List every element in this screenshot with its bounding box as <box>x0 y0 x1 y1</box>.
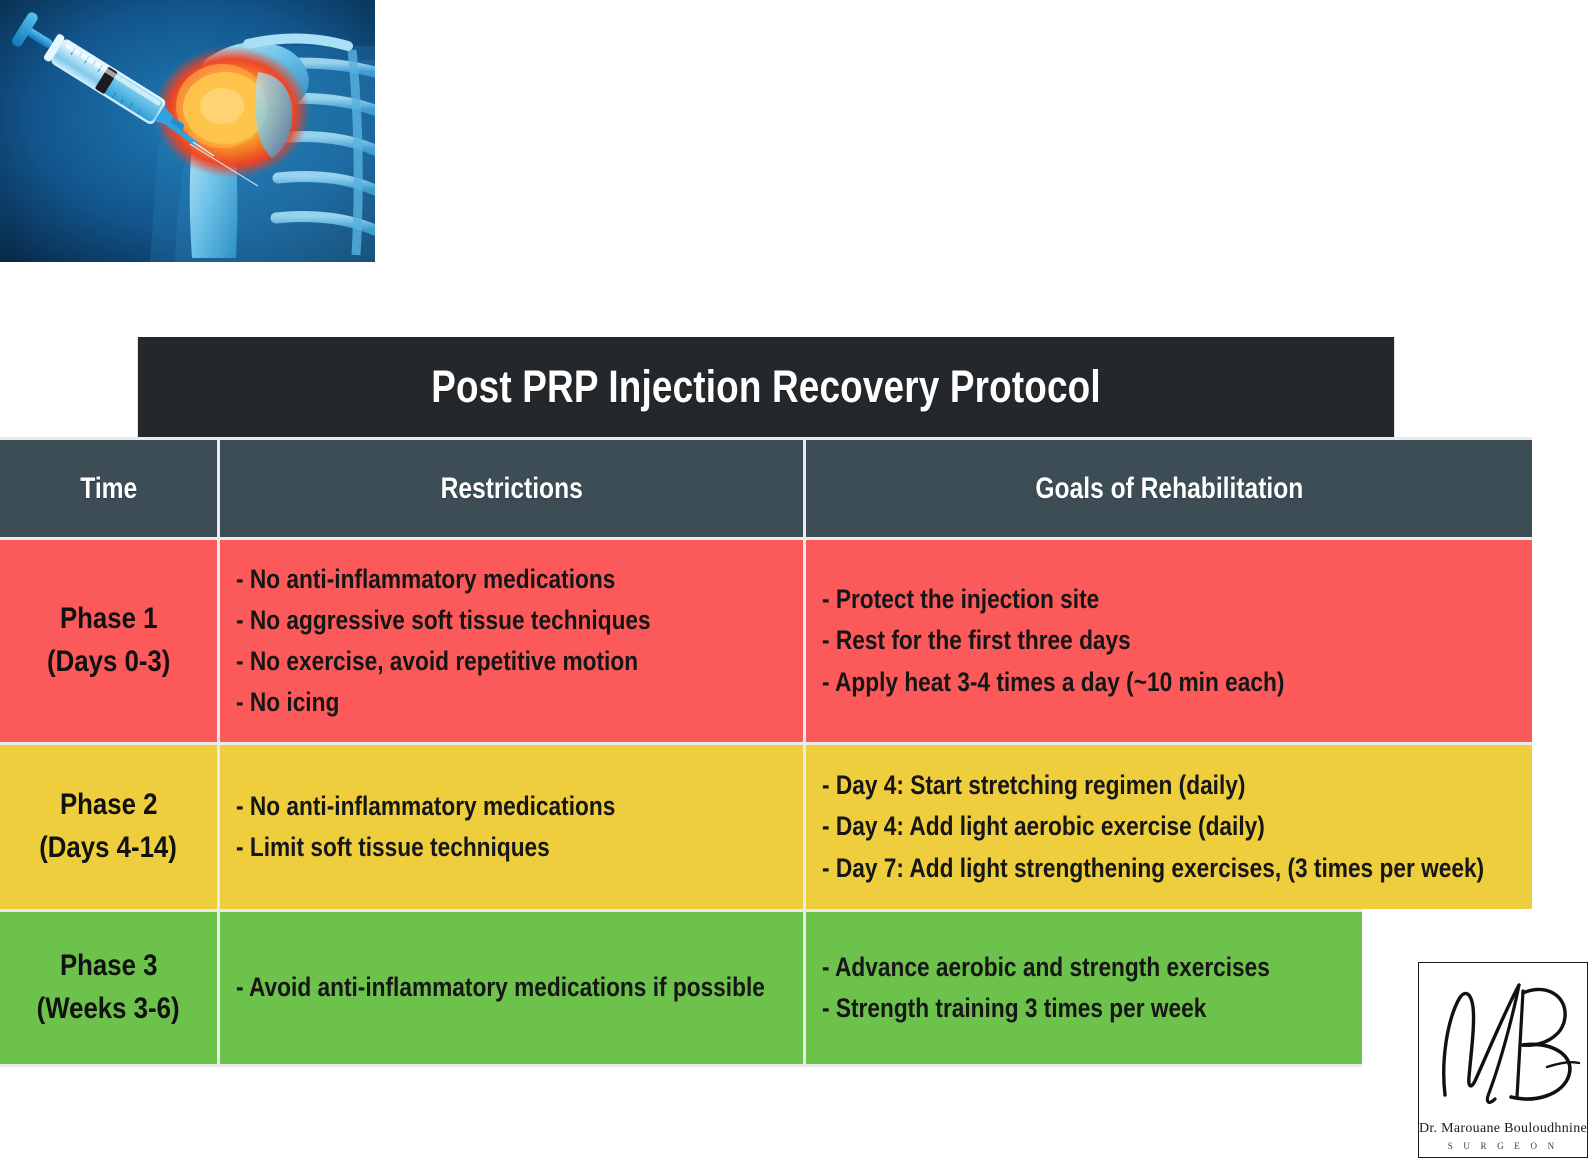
phase-name: Phase 2 <box>60 784 158 827</box>
list-item: - No anti-inflammatory medications <box>236 786 699 827</box>
table-row: Phase 1 (Days 0-3) - No anti-inflammator… <box>0 537 1532 742</box>
list-item: - Strength training 3 times per week <box>822 988 1262 1029</box>
mb-monogram-icon <box>1427 969 1581 1109</box>
shoulder-injection-svg <box>0 0 375 262</box>
phase-name: Phase 1 <box>60 598 158 641</box>
phase-period: (Weeks 3-6) <box>37 988 180 1031</box>
column-header-goals-label: Goals of Rehabilitation <box>1035 472 1303 506</box>
table-row: Phase 2 (Days 4-14) - No anti-inflammato… <box>0 742 1532 909</box>
phase-restrictions-cell: - Avoid anti-inflammatory medications if… <box>217 912 803 1064</box>
goals-list: - Advance aerobic and strength exercises… <box>822 947 1346 1029</box>
restrictions-list: - No anti-inflammatory medications - Lim… <box>236 786 787 868</box>
surgeon-role: S U R G E O N <box>1448 1141 1559 1151</box>
phase-restrictions-cell: - No anti-inflammatory medications - Lim… <box>217 745 803 909</box>
list-item: - Limit soft tissue techniques <box>236 827 699 868</box>
phase-goals-cell: - Advance aerobic and strength exercises… <box>803 912 1362 1064</box>
recovery-protocol-table: Post PRP Injection Recovery Protocol Tim… <box>0 337 1532 1067</box>
column-header-goals: Goals of Rehabilitation <box>803 440 1532 537</box>
restrictions-list: - Avoid anti-inflammatory medications if… <box>236 967 787 1008</box>
list-item: - No anti-inflammatory medications <box>236 559 699 600</box>
phase-time-cell: Phase 2 (Days 4-14) <box>0 745 217 909</box>
phase-period: (Days 4-14) <box>40 827 178 870</box>
list-item: - Advance aerobic and strength exercises <box>822 947 1262 988</box>
table-row: Phase 3 (Weeks 3-6) - Avoid anti-inflamm… <box>0 909 1362 1064</box>
list-item: - Protect the injection site <box>822 579 1405 620</box>
list-item: - Rest for the first three days <box>822 620 1405 661</box>
phase-time-cell: Phase 3 (Weeks 3-6) <box>0 912 217 1064</box>
goals-list: - Day 4: Start stretching regimen (daily… <box>822 765 1596 888</box>
surgeon-logo: Dr. Marouane Bouloudhnine S U R G E O N <box>1418 962 1588 1158</box>
table-title-bar: Post PRP Injection Recovery Protocol <box>138 337 1394 437</box>
list-item: - Apply heat 3-4 times a day (~10 min ea… <box>822 662 1405 703</box>
table-header-row: Time Restrictions Goals of Rehabilitatio… <box>0 437 1532 537</box>
list-item: - No aggressive soft tissue techniques <box>236 600 699 641</box>
list-item: - No exercise, avoid repetitive motion <box>236 641 699 682</box>
shoulder-injection-illustration <box>0 0 375 262</box>
column-header-time-label: Time <box>80 472 137 506</box>
list-item: - Day 4: Add light aerobic exercise (dai… <box>822 806 1484 847</box>
goals-list: - Protect the injection site - Rest for … <box>822 579 1516 702</box>
table-bottom-border <box>0 1064 1362 1067</box>
column-header-restrictions: Restrictions <box>217 440 803 537</box>
list-item: - Day 7: Add light strengthening exercis… <box>822 848 1484 889</box>
surgeon-name: Dr. Marouane Bouloudhnine <box>1419 1121 1587 1137</box>
list-item: - Avoid anti-inflammatory medications if… <box>236 967 699 1008</box>
phase-name: Phase 3 <box>60 945 158 988</box>
list-item: - No icing <box>236 682 699 723</box>
phase-goals-cell: - Protect the injection site - Rest for … <box>803 540 1532 742</box>
phase-period: (Days 0-3) <box>47 641 170 684</box>
phase-restrictions-cell: - No anti-inflammatory medications - No … <box>217 540 803 742</box>
column-header-restrictions-label: Restrictions <box>440 472 582 506</box>
phase-goals-cell: - Day 4: Start stretching regimen (daily… <box>803 745 1596 909</box>
restrictions-list: - No anti-inflammatory medications - No … <box>236 559 787 723</box>
phase-time-cell: Phase 1 (Days 0-3) <box>0 540 217 742</box>
list-item: - Day 4: Start stretching regimen (daily… <box>822 765 1484 806</box>
page-title: Post PRP Injection Recovery Protocol <box>431 361 1101 413</box>
column-header-time: Time <box>0 440 217 537</box>
